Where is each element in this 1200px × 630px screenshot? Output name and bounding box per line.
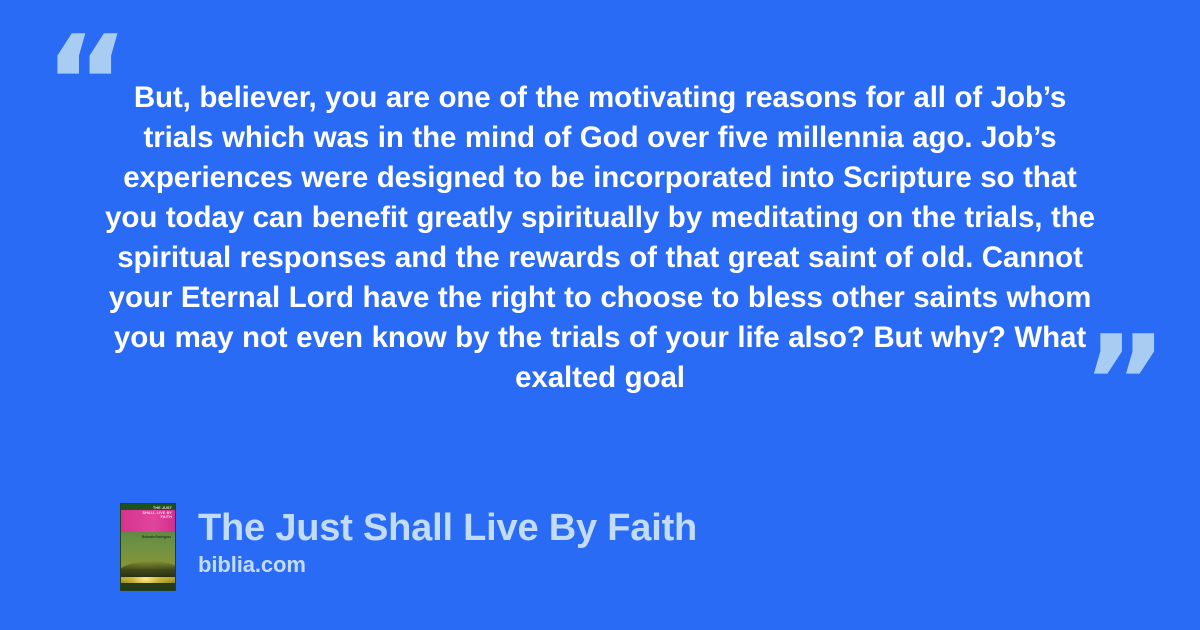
quote-text: But, believer, you are one of the motiva… — [100, 78, 1100, 398]
book-cover-thumbnail: THE JUST SHALL LIVE BY FAITH Rolando Rod… — [120, 503, 176, 591]
quote-block: But, believer, you are one of the motiva… — [100, 78, 1100, 398]
book-cover-bottom-strip — [121, 583, 175, 590]
close-quote-icon: ” — [1082, 318, 1167, 448]
book-cover-ridge — [120, 561, 176, 577]
footer-text-group: The Just Shall Live By Faith biblia.com — [198, 503, 697, 578]
book-cover-band-title: THE JUST SHALL LIVE BY FAITH — [140, 506, 172, 520]
book-title: The Just Shall Live By Faith — [198, 506, 697, 550]
site-name: biblia.com — [198, 552, 697, 578]
book-cover-band-subtitle: Rolando Rodriguez — [141, 535, 171, 539]
footer: THE JUST SHALL LIVE BY FAITH Rolando Rod… — [120, 503, 697, 591]
quote-card: “ But, believer, you are one of the moti… — [0, 0, 1200, 630]
